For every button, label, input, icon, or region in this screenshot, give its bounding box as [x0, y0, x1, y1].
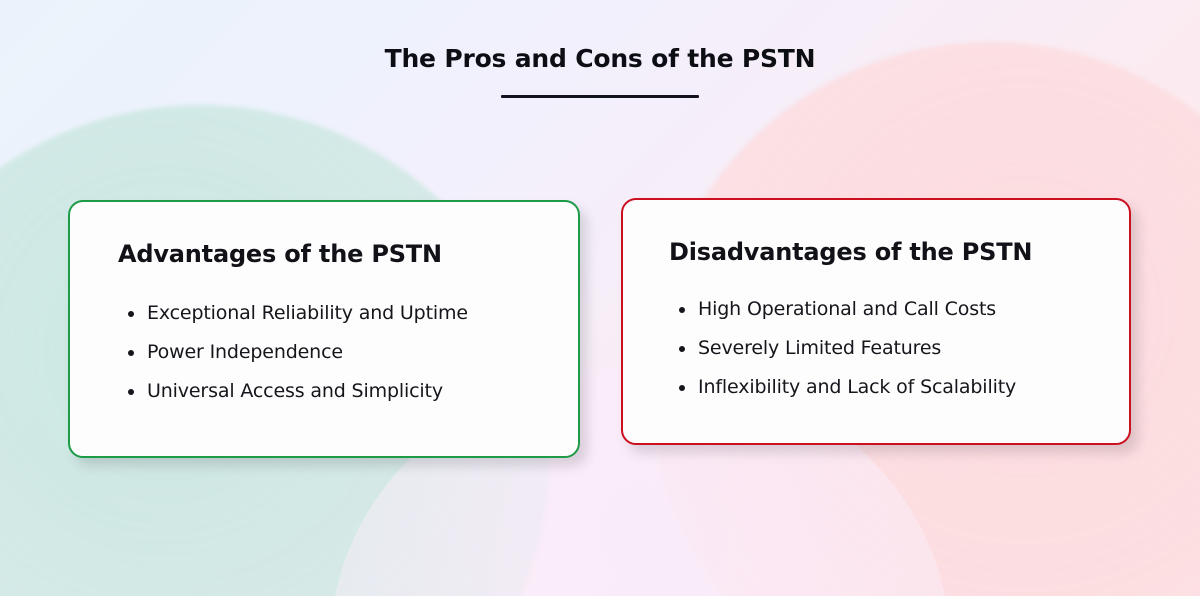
list-item: Inflexibility and Lack of Scalability	[679, 368, 1129, 407]
disadvantages-list: High Operational and Call Costs Severely…	[679, 290, 1129, 407]
header: The Pros and Cons of the PSTN	[0, 0, 1200, 98]
title-underline-rule	[501, 95, 699, 98]
page-title: The Pros and Cons of the PSTN	[0, 44, 1200, 73]
list-item: High Operational and Call Costs	[679, 290, 1129, 329]
list-item: Severely Limited Features	[679, 329, 1129, 368]
list-item: Exceptional Reliability and Uptime	[128, 294, 578, 333]
advantages-card-heading: Advantages of the PSTN	[118, 240, 578, 268]
advantages-list: Exceptional Reliability and Uptime Power…	[128, 294, 578, 411]
disadvantages-card-heading: Disadvantages of the PSTN	[669, 238, 1129, 266]
list-item: Universal Access and Simplicity	[128, 372, 578, 411]
advantages-card: Advantages of the PSTN Exceptional Relia…	[68, 200, 580, 458]
infographic-canvas: The Pros and Cons of the PSTN Advantages…	[0, 0, 1200, 596]
list-item: Power Independence	[128, 333, 578, 372]
disadvantages-card: Disadvantages of the PSTN High Operation…	[621, 198, 1131, 445]
